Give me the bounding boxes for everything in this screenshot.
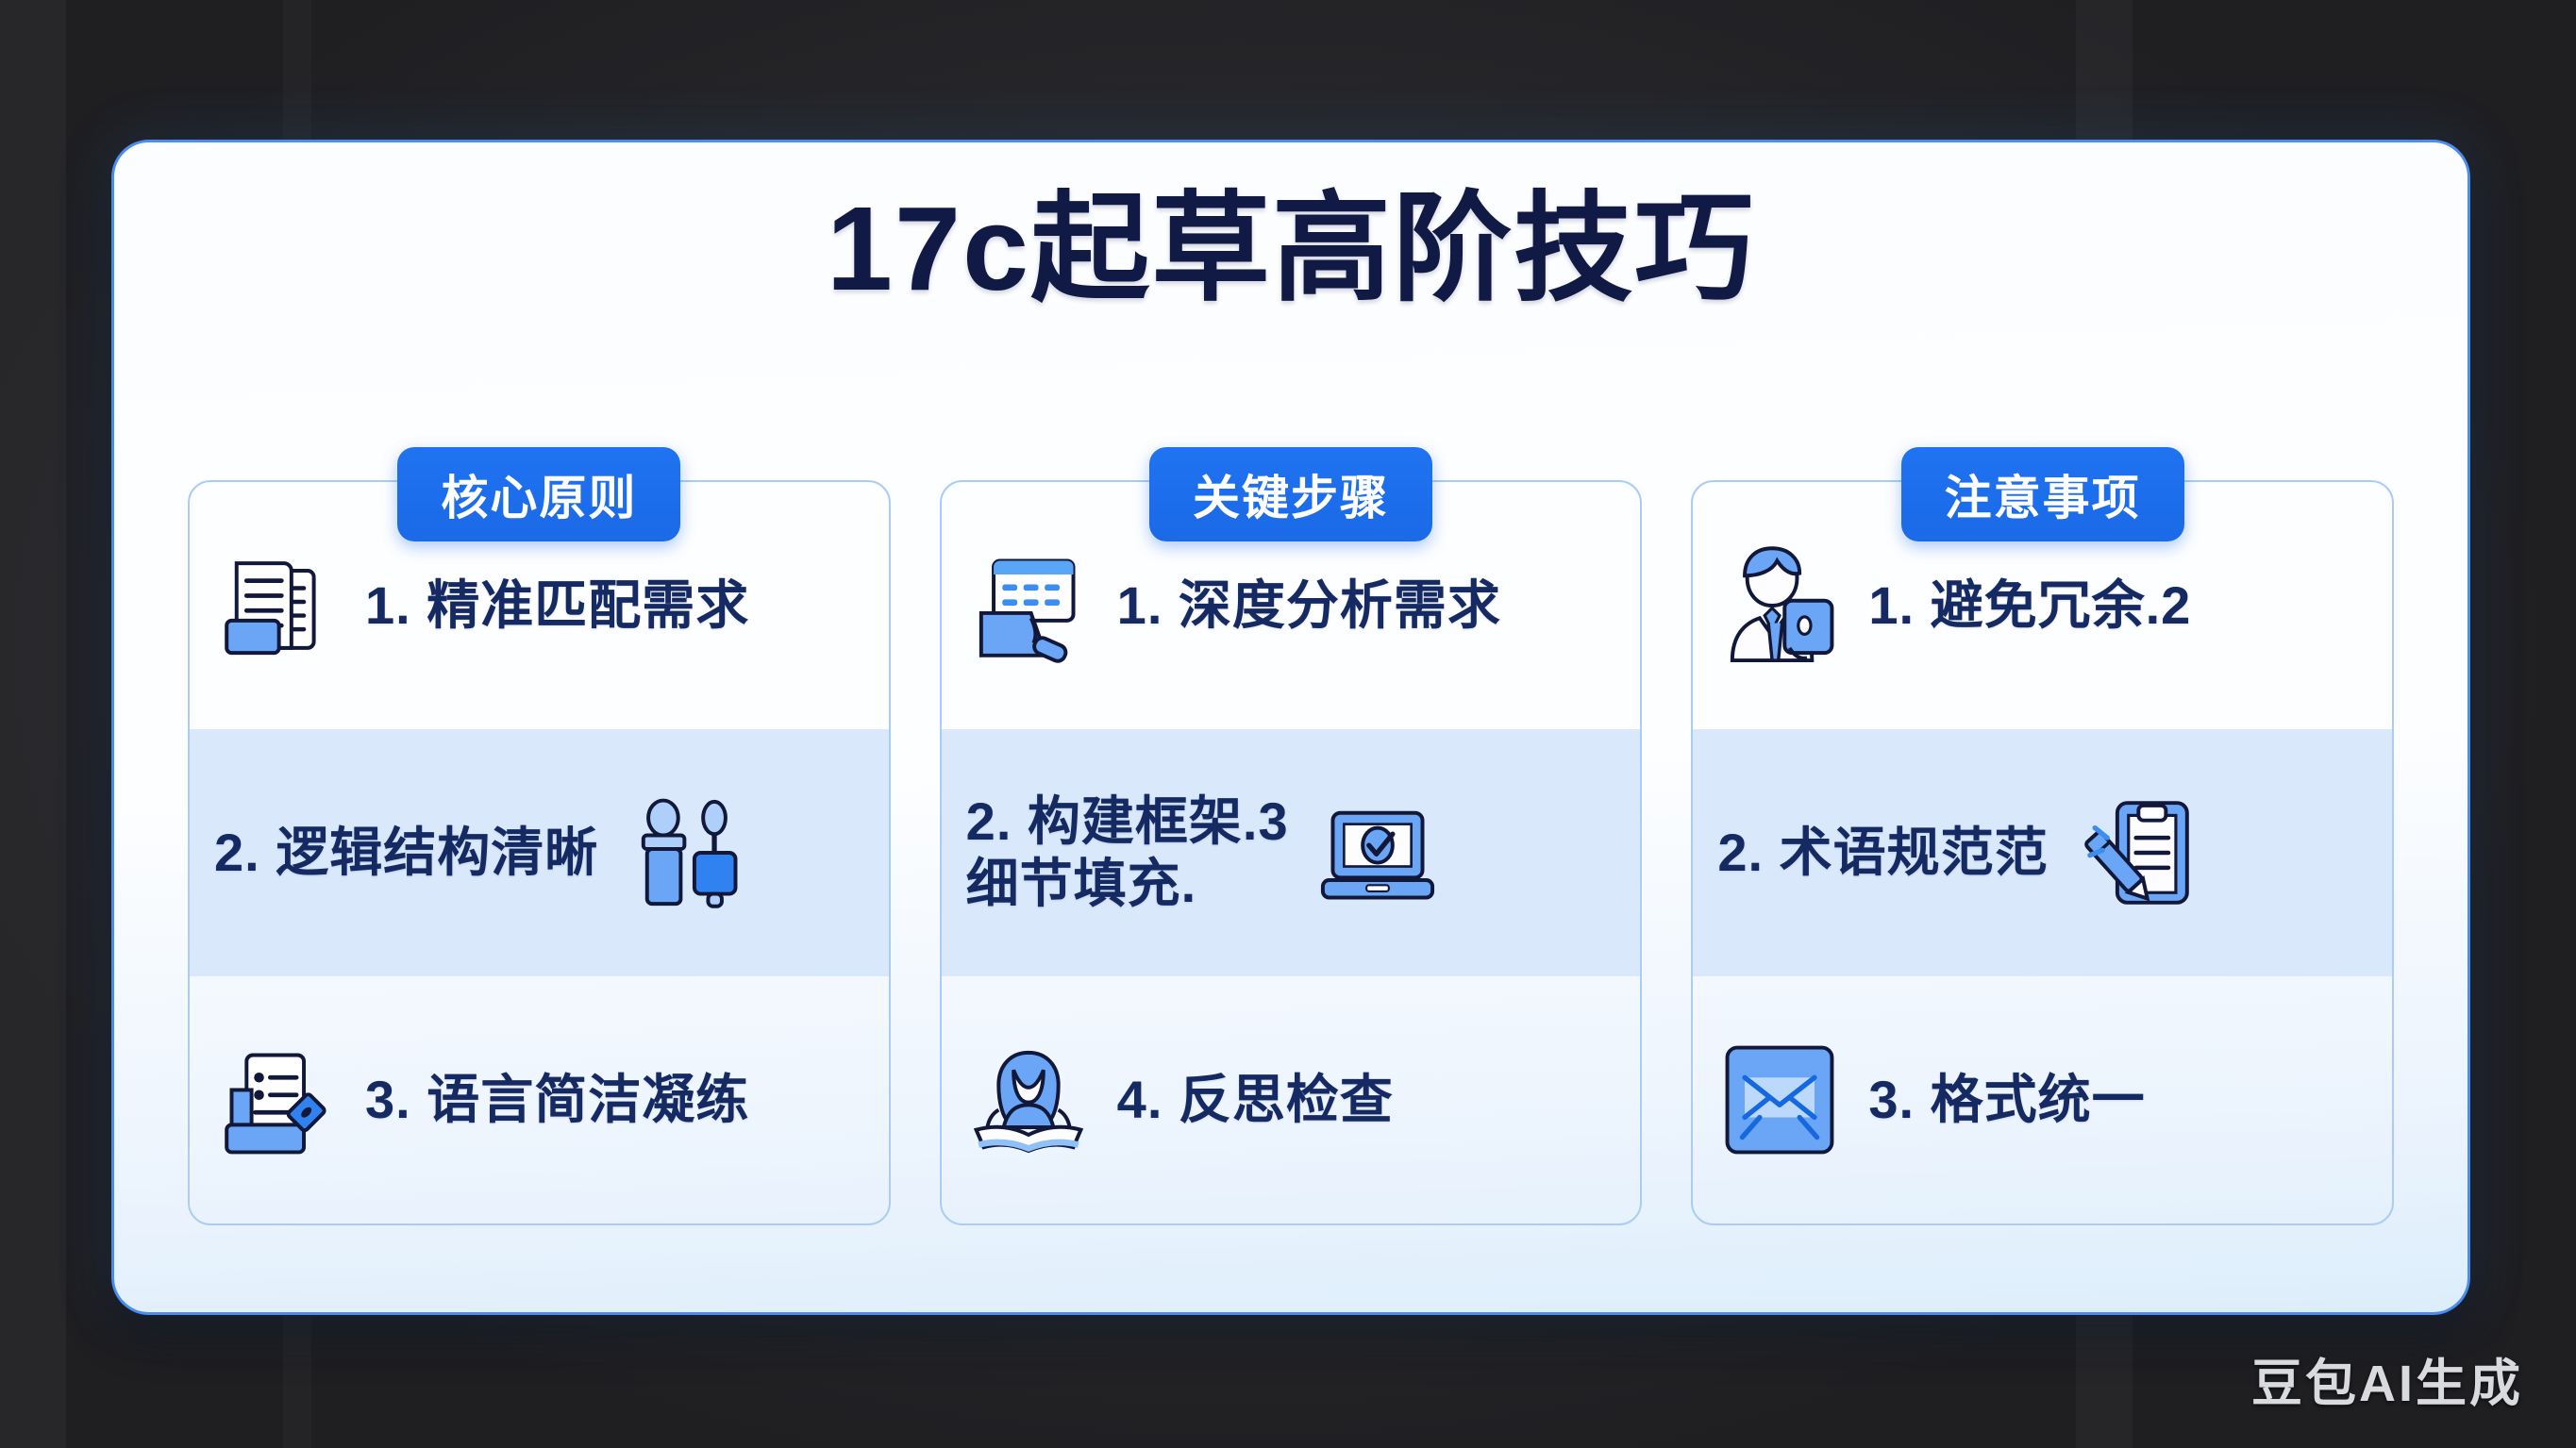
- infographic-canvas: 17c起草高阶技巧 核心原则 1. 精准匹配需求 2. 逻辑结构清晰: [0, 0, 2576, 1448]
- person-reading-icon: [966, 1038, 1091, 1162]
- list-item-label: 3. 语言简洁凝练: [365, 1069, 749, 1131]
- list-item-label: 4. 反思检查: [1117, 1069, 1394, 1131]
- list-item-label: 2. 术语规范范: [1717, 822, 2048, 884]
- column-rows: 1. 避免冗余.2 2. 术语规范范 3. 格式统一: [1693, 482, 2392, 1223]
- list-item-label: 1. 深度分析需求: [1117, 574, 1501, 637]
- list-item-label: 3. 格式统一: [1868, 1069, 2145, 1131]
- main-card: 17c起草高阶技巧 核心原则 1. 精准匹配需求 2. 逻辑结构清晰: [111, 140, 2470, 1315]
- column-rows: 1. 深度分析需求 2. 构建框架.3 细节填充. 4. 反思检查: [942, 482, 1641, 1223]
- list-item-label: 1. 精准匹配需求: [365, 574, 749, 637]
- list-item[interactable]: 4. 反思检查: [942, 976, 1641, 1223]
- person-tablet-icon: [1717, 543, 1842, 668]
- list-item-label: 2. 逻辑结构清晰: [214, 822, 598, 884]
- page-title: 17c起草高阶技巧: [114, 184, 2467, 315]
- list-item-label: 2. 构建框架.3 细节填充.: [966, 791, 1289, 915]
- laptop-check-icon: [1315, 791, 1440, 915]
- list-item[interactable]: 2. 构建框架.3 细节填充.: [942, 729, 1641, 976]
- column-badge[interactable]: 注意事项: [1901, 447, 2184, 541]
- columns-container: 核心原则 1. 精准匹配需求 2. 逻辑结构清晰: [188, 480, 2394, 1225]
- watermark-label: 豆包AI生成: [2251, 1341, 2523, 1416]
- column-badge[interactable]: 核心原则: [397, 447, 680, 541]
- list-item[interactable]: 2. 逻辑结构清晰: [190, 729, 889, 976]
- list-item[interactable]: 3. 格式统一: [1693, 976, 2392, 1223]
- clipboard-pencil-icon: [2075, 791, 2200, 915]
- podium-speaker-icon: [625, 791, 749, 915]
- envelope-icon: [1717, 1038, 1842, 1162]
- column-card: 核心原则 1. 精准匹配需求 2. 逻辑结构清晰: [188, 480, 891, 1225]
- document-pen-icon: [214, 1038, 339, 1162]
- list-item[interactable]: 3. 语言简洁凝练: [190, 976, 889, 1223]
- list-item[interactable]: 2. 术语规范范: [1693, 729, 2392, 976]
- documents-icon: [214, 543, 339, 668]
- list-item-label: 1. 避免冗余.2: [1868, 574, 2191, 637]
- column-card: 注意事项 1. 避免冗余.2 2. 术: [1691, 480, 2394, 1225]
- monitor-analysis-icon: [966, 543, 1091, 668]
- column-badge[interactable]: 关键步骤: [1149, 447, 1432, 541]
- column-rows: 1. 精准匹配需求 2. 逻辑结构清晰 3. 语言简洁凝练: [190, 482, 889, 1223]
- column-card: 关键步骤 1. 深度分析需求 2. 构建框架.3 细节填充.: [940, 480, 1643, 1225]
